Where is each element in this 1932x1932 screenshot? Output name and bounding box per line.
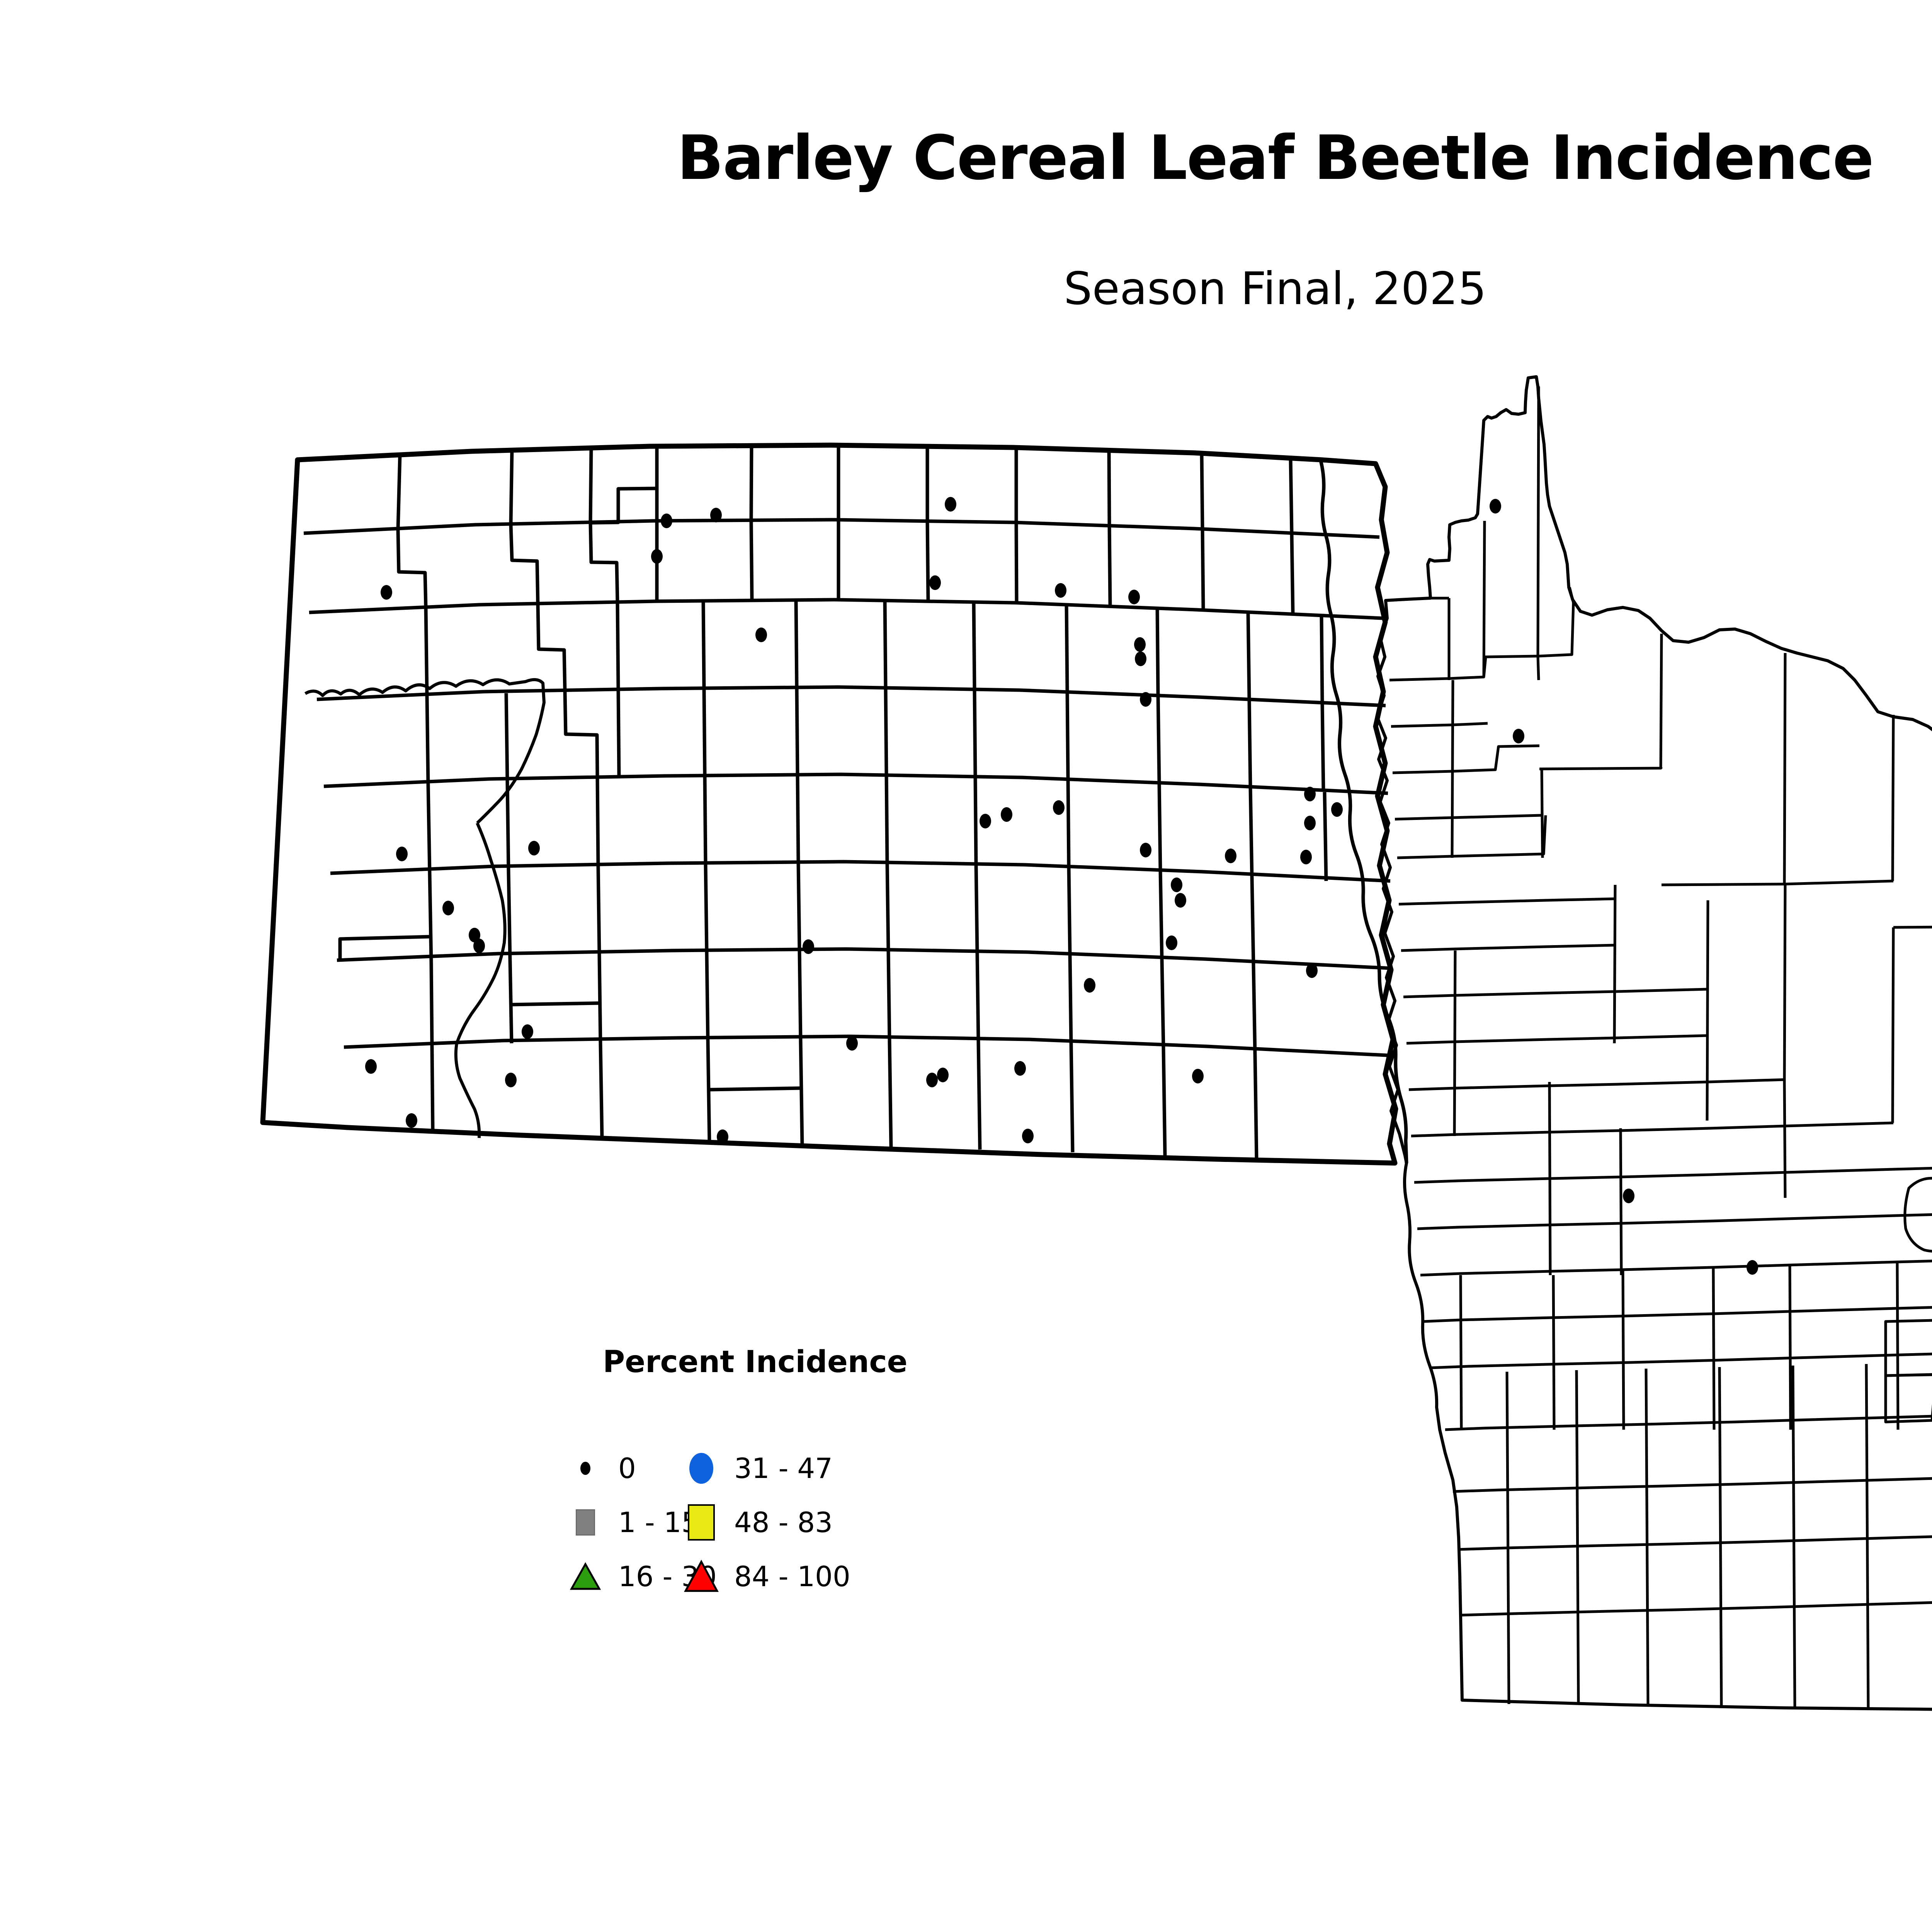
mn-hline-7 [1391, 723, 1488, 726]
nd-t2-v6 [927, 520, 928, 600]
mn-hline-23 [1453, 1469, 1932, 1492]
nd-t6-v3 [598, 866, 599, 954]
legend-item-3[interactable]: 31 - 47 [684, 1441, 846, 1495]
mn-vline-c [1538, 386, 1539, 680]
nd-t5-v3 [597, 777, 598, 866]
legend: Percent Incidence 0 31 - 47 1 - 15 [603, 1345, 1105, 1615]
mn-vline-d [1661, 634, 1662, 769]
nd-t5-v9 [1159, 783, 1160, 871]
map-data-point[interactable] [1014, 1061, 1026, 1076]
map-data-point[interactable] [1134, 637, 1146, 652]
nd-t3-v1 [398, 529, 426, 607]
mn-vline-p [1621, 1128, 1621, 1275]
incidence-map[interactable] [0, 0, 1932, 1932]
nd-t3-v3 [617, 603, 618, 689]
mn-vline-k [1707, 900, 1708, 1121]
mn-hline-25 [1460, 1593, 1932, 1615]
map-data-point[interactable] [522, 1024, 533, 1039]
map-data-point[interactable] [396, 847, 408, 861]
map-data-point[interactable] [1490, 499, 1501, 514]
map-data-point[interactable] [1747, 1260, 1758, 1275]
nd-t1-v9 [1109, 450, 1109, 525]
nd-t8-v8 [1071, 1044, 1073, 1152]
map-data-point[interactable] [1623, 1189, 1634, 1203]
map-data-point[interactable] [926, 1073, 938, 1087]
map-data-point[interactable] [1304, 787, 1316, 801]
north-dakota-counties [263, 445, 1396, 1163]
map-data-point[interactable] [473, 939, 485, 953]
nd-t6-v6 [887, 862, 888, 951]
nd-t4-v11 [1322, 703, 1323, 791]
nd-t6-v1 [428, 784, 430, 873]
mn-vline-b [1484, 521, 1485, 677]
map-data-point[interactable] [1166, 935, 1177, 950]
nd-t5-v1 [427, 696, 428, 784]
map-data-point[interactable] [505, 1073, 517, 1087]
mn-hline-15 [1409, 1080, 1785, 1090]
nd-t6-v10 [1252, 877, 1253, 966]
nd-t8-v4 [708, 1041, 709, 1143]
legend-item-2[interactable]: 16 - 30 [568, 1549, 684, 1604]
legend-label-4: 48 - 83 [734, 1506, 833, 1539]
nd-t1-v5 [751, 446, 752, 520]
nd-t8-v6 [889, 1040, 891, 1147]
legend-label-3: 31 - 47 [734, 1452, 833, 1485]
nd-t3-v10 [1248, 612, 1249, 700]
mn-hline-10 [1397, 815, 1546, 858]
nd-t4-v2 [565, 691, 597, 777]
nd-t5-v7 [975, 776, 976, 864]
map-data-point[interactable] [1171, 878, 1182, 892]
nd-t5-v2 [506, 693, 507, 782]
map-data-point[interactable] [803, 939, 814, 954]
nd-t3-v7 [974, 601, 975, 689]
nd-t1-v10 [1202, 453, 1202, 529]
map-data-point[interactable] [945, 497, 956, 512]
nd-t6-v4 [706, 863, 707, 952]
map-data-point[interactable] [846, 1036, 858, 1051]
map-data-point[interactable] [651, 549, 663, 564]
nd-notch-3 [709, 1088, 802, 1090]
nd-t2-v4 [751, 520, 752, 600]
mn-sv-2 [1577, 1370, 1578, 1705]
nd-row-2 [309, 600, 1383, 618]
mn-hline-12 [1401, 945, 1616, 951]
nd-row-1 [304, 520, 1379, 537]
legend-symbol-large-triangle-icon [684, 1557, 719, 1596]
mn-hline-9 [1395, 815, 1542, 819]
map-data-point[interactable] [755, 628, 767, 642]
nd-t4-v9 [1158, 695, 1159, 783]
nd-t3-v6 [885, 600, 886, 687]
nd-t2-v9 [1202, 529, 1203, 610]
mn-vline-m [1784, 885, 1785, 1198]
nd-t7-v4 [707, 952, 708, 1041]
map-data-point[interactable] [661, 514, 672, 528]
nd-t4-v7 [975, 689, 975, 776]
nd-t4-v1 [426, 607, 427, 696]
map-data-point[interactable] [1140, 843, 1151, 857]
nd-t8-v10 [1255, 1055, 1257, 1159]
mn-vline-e [1784, 653, 1785, 885]
mn-metro-3 [1886, 1374, 1932, 1422]
nd-t1-v3 [590, 448, 657, 523]
mn-vline-f [1893, 715, 1893, 881]
nd-row-4 [324, 774, 1388, 793]
mn-hline-6 [1893, 927, 1932, 927]
nd-t7-v5 [799, 951, 801, 1040]
minnesota-counties [1377, 377, 1932, 1709]
mn-state-outline [1377, 377, 1932, 1709]
mn-sv-4 [1719, 1367, 1721, 1706]
map-data-point[interactable] [1300, 850, 1312, 864]
mn-cv-2 [1553, 1275, 1554, 1430]
nd-t7-v3 [599, 954, 600, 1043]
map-data-point[interactable] [1306, 963, 1318, 978]
map-data-point[interactable] [1304, 816, 1316, 830]
map-data-point[interactable] [710, 508, 722, 522]
map-data-point[interactable] [1128, 590, 1140, 604]
map-data-point[interactable] [381, 585, 392, 600]
mn-hline-17 [1414, 1166, 1932, 1182]
nd-t5-v8 [1068, 778, 1069, 866]
map-data-point[interactable] [365, 1059, 377, 1074]
nd-notch-2 [510, 1003, 600, 1005]
mn-hline-19 [1420, 1256, 1932, 1275]
mn-cv-3 [1623, 1270, 1624, 1430]
mn-vline-n [1893, 927, 1893, 1123]
legend-item-1[interactable]: 1 - 15 [568, 1495, 684, 1549]
nd-t7-v2 [509, 871, 510, 960]
mn-hline-13 [1403, 989, 1708, 997]
nd-t7-v1 [430, 873, 431, 962]
map-data-point[interactable] [717, 1129, 728, 1144]
nd-t8-v2 [510, 960, 512, 1043]
nd-t2-v2 [590, 523, 617, 603]
mn-hline-18 [1417, 1213, 1932, 1229]
mn-hline-14 [1406, 1036, 1708, 1043]
nd-t5-v10 [1250, 788, 1252, 877]
map-data-point[interactable] [1022, 1129, 1034, 1143]
map-data-point[interactable] [1175, 893, 1186, 908]
nd-t8-v9 [1163, 1049, 1165, 1156]
mn-vline-o [1549, 1082, 1550, 1275]
legend-symbol-small-triangle-icon [568, 1557, 603, 1596]
nd-t6-v7 [976, 864, 977, 953]
nd-t5-v5 [798, 774, 798, 862]
nd-t1-v2 [511, 449, 512, 524]
nd-t2-v1 [511, 524, 538, 605]
map-data-point[interactable] [1192, 1069, 1204, 1083]
mn-hline-21 [1430, 1345, 1932, 1368]
nd-t4-v6 [886, 687, 886, 774]
nd-t2-v8 [1109, 525, 1110, 605]
map-data-point[interactable] [1053, 800, 1065, 815]
mn-sv-3 [1646, 1369, 1648, 1706]
nd-t7-v7 [977, 953, 978, 1042]
map-data-point[interactable] [929, 575, 941, 590]
nd-t3-v9 [1157, 607, 1158, 695]
legend-grid: 0 31 - 47 1 - 15 48 - 83 [568, 1441, 846, 1604]
mn-vline-l [1454, 951, 1455, 1136]
mn-hline-24 [1458, 1527, 1932, 1549]
mn-cv-1 [1461, 1275, 1461, 1430]
nd-t6-v5 [798, 862, 799, 951]
mn-sv-6 [1866, 1364, 1868, 1708]
nd-t3-v2 [538, 605, 565, 691]
mn-cv-4 [1713, 1267, 1714, 1430]
nd-t7-v6 [888, 951, 889, 1040]
nd-t7-v8 [1070, 955, 1071, 1044]
nd-row-3 [317, 687, 1386, 706]
nd-t3-v5 [796, 600, 797, 687]
legend-symbol-small-square-icon [568, 1503, 603, 1542]
legend-symbol-large-circle-icon [684, 1449, 719, 1488]
nd-t5-v6 [886, 774, 887, 862]
mn-hline-22 [1445, 1407, 1932, 1430]
legend-item-4[interactable]: 48 - 83 [684, 1495, 846, 1549]
nd-t3-v11 [1321, 616, 1322, 703]
legend-label-0: 0 [618, 1452, 636, 1485]
nd-t3-v4 [703, 600, 704, 688]
nd-t6-v2 [507, 782, 509, 871]
nd-t4-v4 [704, 688, 705, 775]
mn-vline-j [1614, 885, 1615, 1043]
nd-t8-v3 [600, 1043, 602, 1138]
map-data-point[interactable] [406, 1113, 417, 1128]
mn-cv-6 [1897, 1262, 1898, 1430]
map-data-point[interactable] [1225, 849, 1236, 863]
mn-metro-1 [1886, 1320, 1932, 1376]
nd-t1-v11 [1291, 457, 1292, 534]
mn-hline-5 [1662, 881, 1893, 885]
mn-hline-16 [1411, 1123, 1893, 1136]
missouri-river [456, 823, 505, 1138]
mn-sv-1 [1507, 1372, 1509, 1704]
mn-vline-i [1542, 769, 1543, 858]
nd-t4-v10 [1249, 700, 1250, 788]
nd-t7-v10 [1253, 966, 1255, 1055]
nd-t2-v10 [1292, 534, 1293, 614]
nd-t5-v4 [705, 775, 706, 863]
nd-t5-v11 [1325, 792, 1326, 881]
mn-vline-h [1452, 680, 1453, 858]
nd-t8-v5 [801, 1040, 802, 1145]
nd-t6-v9 [1160, 871, 1162, 960]
map-data-point[interactable] [980, 814, 991, 828]
legend-symbol-small-circle-icon [568, 1449, 603, 1488]
nd-t8-v7 [978, 1042, 980, 1150]
legend-item-5[interactable]: 84 - 100 [684, 1549, 846, 1604]
map-data-point[interactable] [1140, 692, 1151, 707]
map-data-point[interactable] [442, 901, 454, 915]
map-data-point[interactable] [1135, 651, 1146, 666]
legend-label-5: 84 - 100 [734, 1560, 850, 1593]
nd-t3-v8 [1066, 604, 1067, 691]
nd-t4-v3 [618, 689, 619, 776]
nd-row-5 [330, 862, 1390, 881]
mn-hline-11 [1399, 899, 1615, 904]
nd-t1-v1 [398, 455, 400, 529]
map-data-point[interactable] [1055, 583, 1066, 598]
nd-t6-v8 [1069, 866, 1070, 955]
map-data-point[interactable] [528, 841, 540, 855]
mn-sv-5 [1793, 1366, 1795, 1707]
map-page: Barley Cereal Leaf Beetle Incidence Seas… [0, 0, 1932, 1932]
legend-symbol-large-square-icon [684, 1503, 719, 1542]
mn-hline-2 [1389, 656, 1538, 680]
mn-hline-8 [1393, 746, 1539, 773]
legend-item-0[interactable]: 0 [568, 1441, 684, 1495]
nd-t4-v5 [797, 687, 798, 774]
legend-title: Percent Incidence [603, 1345, 908, 1379]
nd-t7-v9 [1162, 960, 1163, 1049]
mn-hline-20 [1423, 1302, 1932, 1321]
map-data-point[interactable] [1513, 729, 1524, 743]
map-data-point[interactable] [1001, 807, 1012, 822]
nd-t4-v8 [1067, 691, 1068, 778]
nd-row-6 [337, 949, 1392, 968]
mn-hline-4 [1539, 767, 1662, 769]
nd-t8-v1 [431, 962, 433, 1130]
map-data-point[interactable] [1084, 978, 1095, 993]
map-data-point[interactable] [1331, 802, 1343, 817]
mn-cv-5 [1790, 1265, 1791, 1430]
nd-t2-v7 [1016, 522, 1017, 602]
map-data-point[interactable] [937, 1068, 949, 1082]
mn-hline-3 [1539, 587, 1573, 656]
nd-row-7 [344, 1036, 1394, 1056]
